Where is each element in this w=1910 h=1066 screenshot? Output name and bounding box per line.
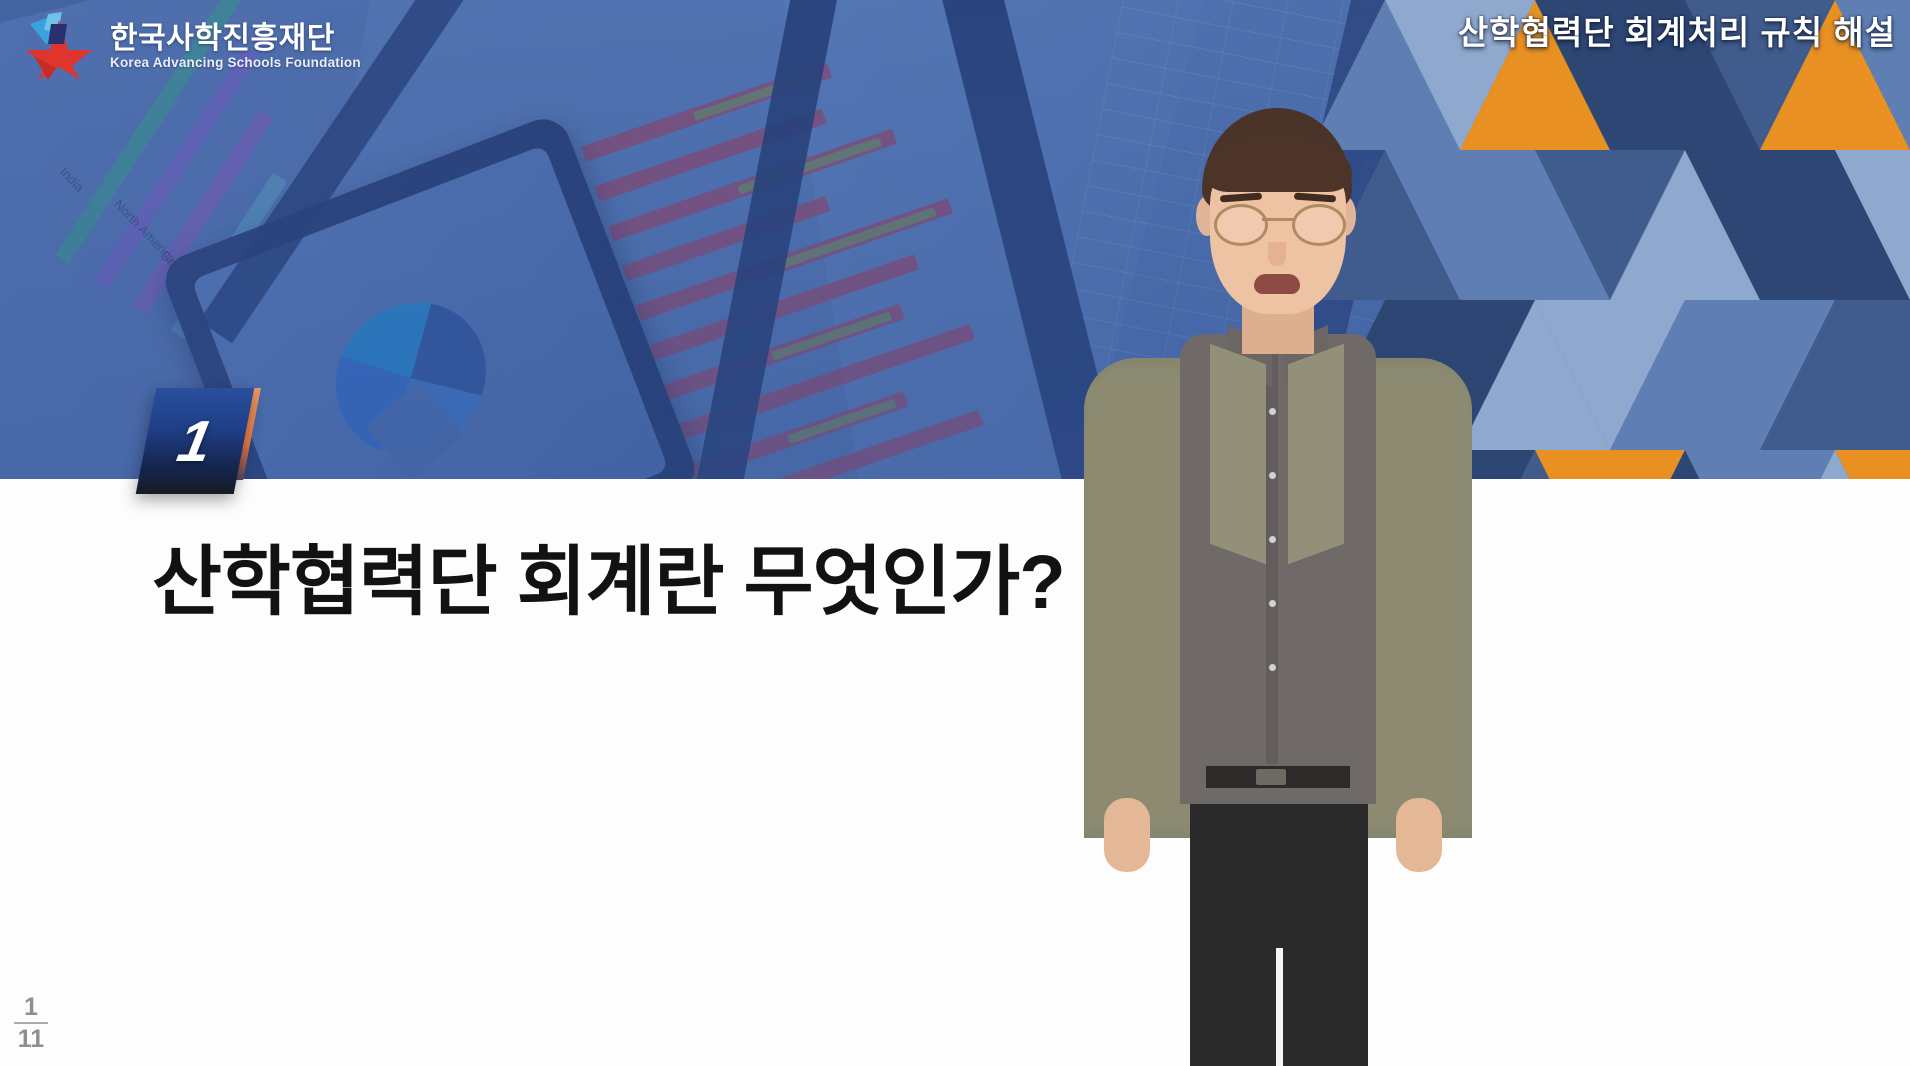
page-title: 산학협력단 회계란 무엇인가? bbox=[152, 520, 1065, 630]
geometric-triangle bbox=[1835, 300, 1910, 450]
lens-right bbox=[1292, 204, 1346, 246]
shirt-button bbox=[1269, 472, 1276, 479]
section-number-badge: 1 bbox=[128, 388, 278, 494]
hand-left bbox=[1104, 798, 1150, 872]
page-indicator: 1 11 bbox=[14, 994, 48, 1053]
leg-gap bbox=[1276, 948, 1283, 1066]
header-band: IndiaNorth AmericaSouth AmericaEastern E… bbox=[0, 0, 1910, 479]
logo-english-name: Korea Advancing Schools Foundation bbox=[110, 56, 361, 70]
page-divider bbox=[14, 1022, 48, 1024]
star-logo-icon bbox=[22, 10, 96, 84]
page-current: 1 bbox=[24, 994, 38, 1020]
shirt-button bbox=[1269, 536, 1276, 543]
lapel-right bbox=[1288, 344, 1344, 564]
kasf-logo: 한국사학진흥재단 Korea Advancing Schools Foundat… bbox=[22, 10, 361, 84]
belt-buckle bbox=[1256, 769, 1286, 785]
glasses-bridge bbox=[1262, 218, 1294, 221]
badge-number-label: 1 bbox=[136, 388, 255, 494]
hair-fringe bbox=[1204, 138, 1352, 192]
shirt-button bbox=[1269, 408, 1276, 415]
slide-stage: IndiaNorth AmericaSouth AmericaEastern E… bbox=[0, 0, 1910, 1066]
page-total: 11 bbox=[18, 1026, 44, 1052]
lens-left bbox=[1214, 204, 1268, 246]
header-title: 산학협력단 회계처리 규칙 해설 bbox=[1458, 6, 1896, 54]
lapel-left bbox=[1210, 344, 1266, 564]
logo-text: 한국사학진흥재단 Korea Advancing Schools Foundat… bbox=[110, 24, 361, 70]
glasses-icon bbox=[1212, 204, 1344, 240]
shirt-button bbox=[1269, 664, 1276, 671]
shirt-placket bbox=[1266, 344, 1278, 764]
mouth bbox=[1254, 274, 1300, 294]
nose bbox=[1268, 242, 1286, 266]
geometric-triangle bbox=[1835, 150, 1910, 300]
hand-right bbox=[1396, 798, 1442, 872]
presenter-figure bbox=[1060, 108, 1480, 1066]
geometric-triangle bbox=[1835, 450, 1910, 479]
logo-korean-name: 한국사학진흥재단 bbox=[110, 24, 361, 54]
shirt-button bbox=[1269, 600, 1276, 607]
